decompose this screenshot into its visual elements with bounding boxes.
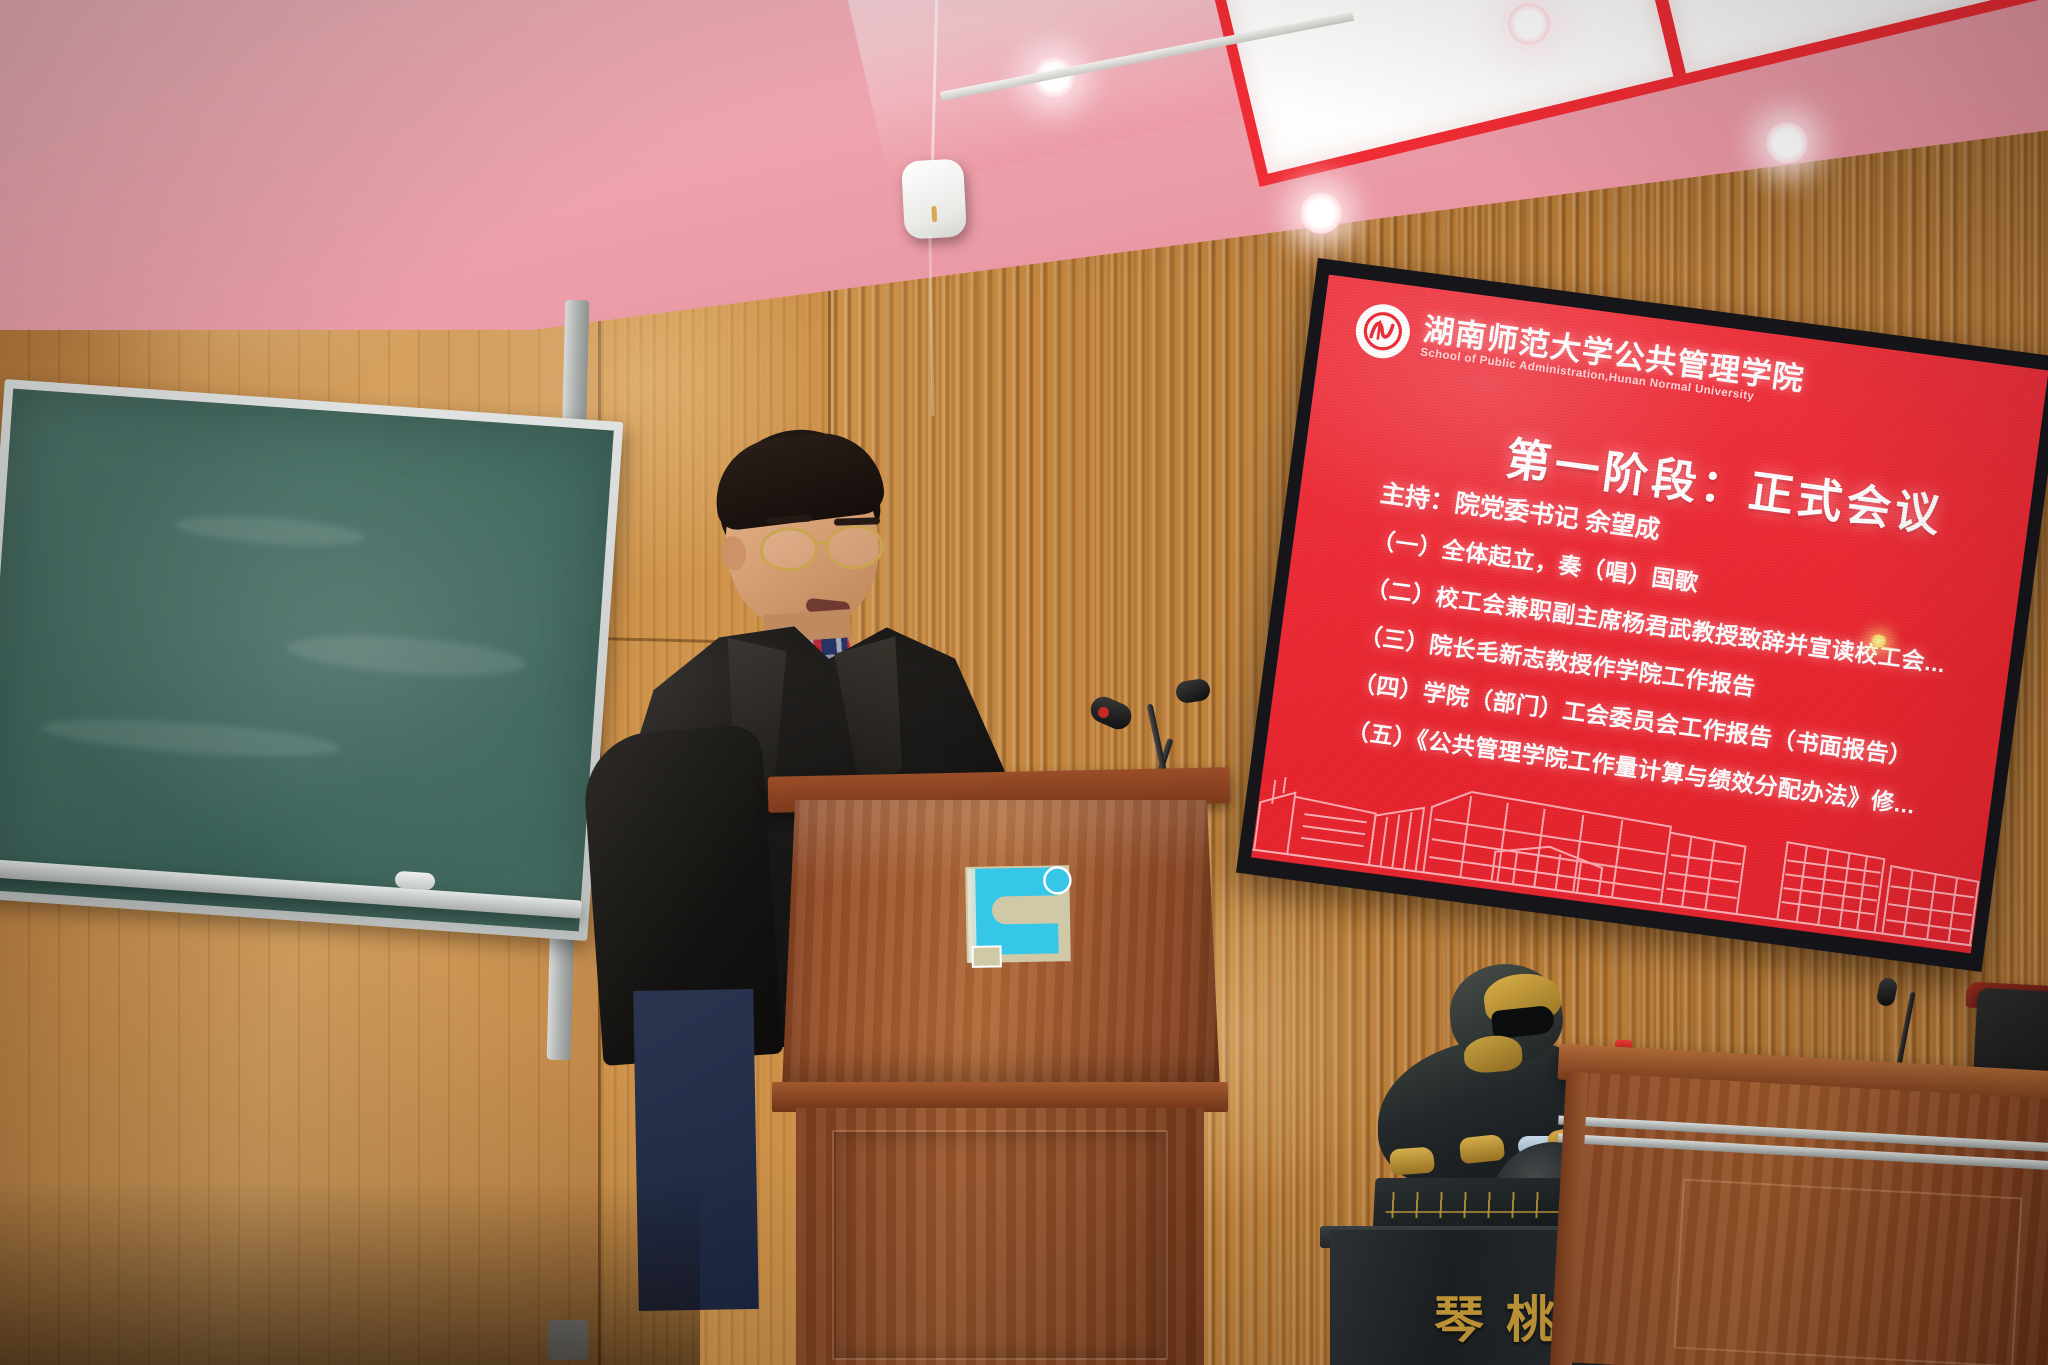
- university-s-emblem-icon: [961, 861, 1081, 971]
- led-screen-surface: 湖南师范大学公共管理学院 School of Public Administra…: [1251, 275, 2048, 954]
- podium-base: [796, 1108, 1204, 1365]
- hunan-normal-university-emblem-icon: [1353, 301, 1414, 362]
- speaker-glasses-icon: [759, 524, 899, 577]
- ceiling-downlight: [1508, 3, 1550, 45]
- blackboard: [0, 379, 623, 941]
- lion-paw: [1459, 1134, 1505, 1164]
- led-display-screen: 湖南师范大学公共管理学院 School of Public Administra…: [1236, 258, 2048, 972]
- ceiling-downlight: [1300, 192, 1342, 234]
- ceiling-downlight: [1766, 122, 1808, 164]
- speaker-podium: [790, 782, 1210, 1365]
- ceiling: [0, 0, 2048, 330]
- lion-paw: [1389, 1146, 1435, 1175]
- conference-hall-photo: 湖南师范大学公共管理学院 School of Public Administra…: [0, 0, 2048, 1365]
- conference-table: [1568, 1082, 2048, 1365]
- podium-base-panel: [832, 1130, 1168, 1360]
- lion-meander-pattern: [1385, 1192, 1576, 1218]
- blackboard-tray-knob: [394, 871, 435, 891]
- microphone-indicator-light: [1098, 707, 1109, 718]
- wifi-access-point-icon: [901, 158, 967, 239]
- table-inset-panel: [1674, 1179, 2023, 1365]
- floor-shadow: [0, 1180, 700, 1365]
- glasses-lens-right: [825, 524, 885, 570]
- glasses-lens-left: [759, 526, 819, 572]
